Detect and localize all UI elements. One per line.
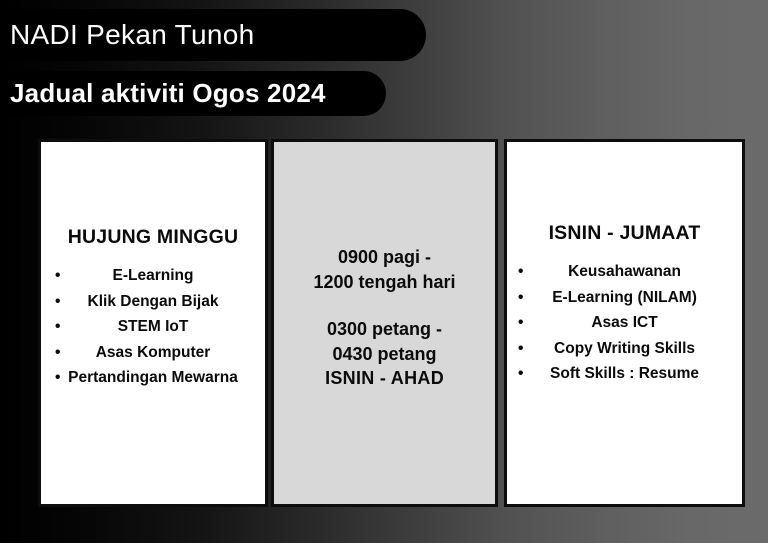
list-item-label: Asas ICT [591,314,657,331]
list-item-label: Keusahawanan [568,263,681,280]
operating-hours-block: 0900 pagi - 1200 tengah hari 0300 petang… [274,245,495,391]
bullet-icon: • [55,340,60,366]
bullet-icon: • [55,289,60,315]
list-item: • Asas Komputer [41,340,265,366]
list-item-label: STEM IoT [118,318,189,335]
list-item: • Soft Skills : Resume [507,361,742,387]
list-item-label: Klik Dengan Bijak [88,293,219,310]
bullet-icon: • [518,336,523,362]
activity-list-weekday: • Keusahawanan • E-Learning (NILAM) • As… [507,259,742,387]
column-heading-weekday: ISNIN - JUMAAT [507,222,742,245]
bullet-icon: • [518,310,523,336]
list-item-label: E-Learning (NILAM) [552,289,697,306]
list-item: • STEM IoT [41,314,265,340]
slide-canvas: NADI Pekan Tunoh Jadual aktiviti Ogos 20… [0,0,768,543]
list-item: • Klik Dengan Bijak [41,289,265,315]
activity-list-weekend: • E-Learning • Klik Dengan Bijak • STEM … [41,263,265,391]
list-item: • Copy Writing Skills [507,336,742,362]
column-weekday: ISNIN - JUMAAT • Keusahawanan • E-Learni… [504,139,745,507]
list-item: • E-Learning (NILAM) [507,285,742,311]
list-item: • Pertandingan Mewarna [41,365,265,391]
page-title: NADI Pekan Tunoh [0,19,255,51]
bullet-icon: • [518,285,523,311]
list-item: • Asas ICT [507,310,742,336]
list-item: • Keusahawanan [507,259,742,285]
bullet-icon: • [55,263,60,289]
title-pill-main: NADI Pekan Tunoh [0,9,426,61]
bullet-icon: • [55,365,60,391]
list-item-label: E-Learning [113,267,194,284]
hours-afternoon-line1: 0300 petang - [274,317,495,342]
column-weekend: HUJUNG MINGGU • E-Learning • Klik Dengan… [38,139,268,507]
list-item: • E-Learning [41,263,265,289]
list-item-label: Asas Komputer [96,344,211,361]
title-pill-subtitle: Jadual aktiviti Ogos 2024 [0,71,386,116]
bullet-icon: • [55,314,60,340]
schedule-table: HUJUNG MINGGU • E-Learning • Klik Dengan… [38,139,745,507]
list-item-label: Soft Skills : Resume [550,365,699,382]
hours-morning-line2: 1200 tengah hari [274,270,495,295]
page-subtitle: Jadual aktiviti Ogos 2024 [0,78,326,109]
column-heading-weekend: HUJUNG MINGGU [41,226,265,249]
list-item-label: Copy Writing Skills [554,340,695,357]
hours-afternoon-line2: 0430 petang [274,342,495,367]
hours-days-range: ISNIN - AHAD [274,366,495,391]
hours-spacer [274,294,495,317]
bullet-icon: • [518,361,523,387]
list-item-label: Pertandingan Mewarna [68,369,238,386]
column-operating-hours: 0900 pagi - 1200 tengah hari 0300 petang… [271,139,498,507]
bullet-icon: • [518,259,523,285]
hours-morning-line1: 0900 pagi - [274,245,495,270]
